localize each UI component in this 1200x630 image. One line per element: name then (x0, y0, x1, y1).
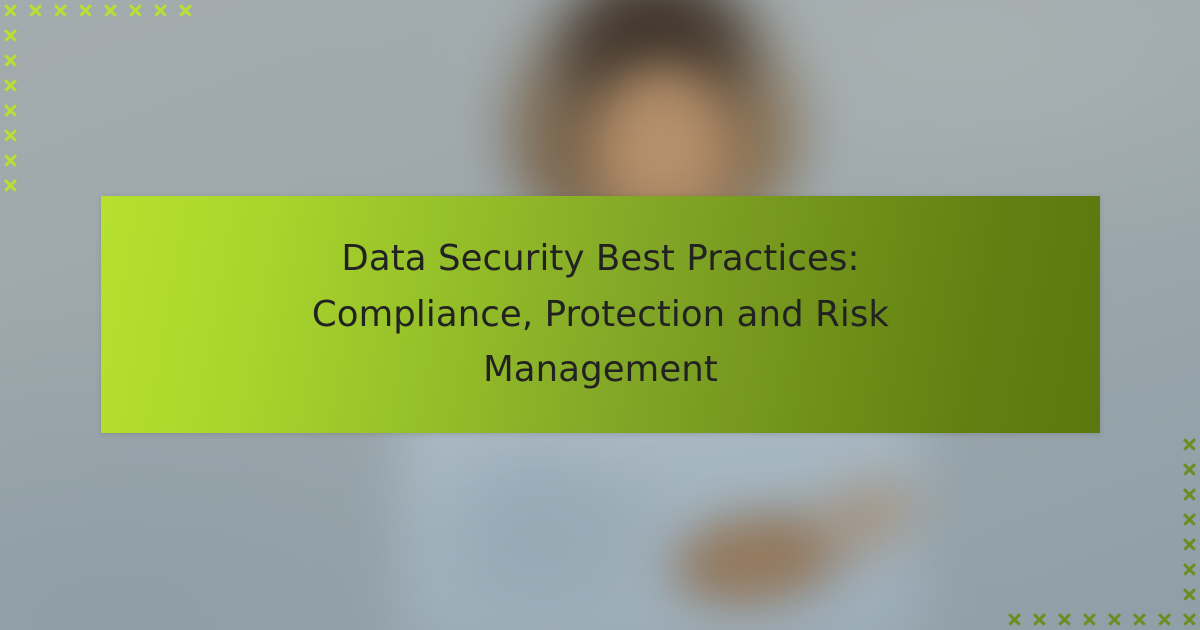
page-title: Data Security Best Practices: Compliance… (205, 231, 997, 397)
social-share-card: Data Security Best Practices: Compliance… (0, 0, 1200, 630)
title-banner: Data Security Best Practices: Compliance… (101, 196, 1100, 433)
